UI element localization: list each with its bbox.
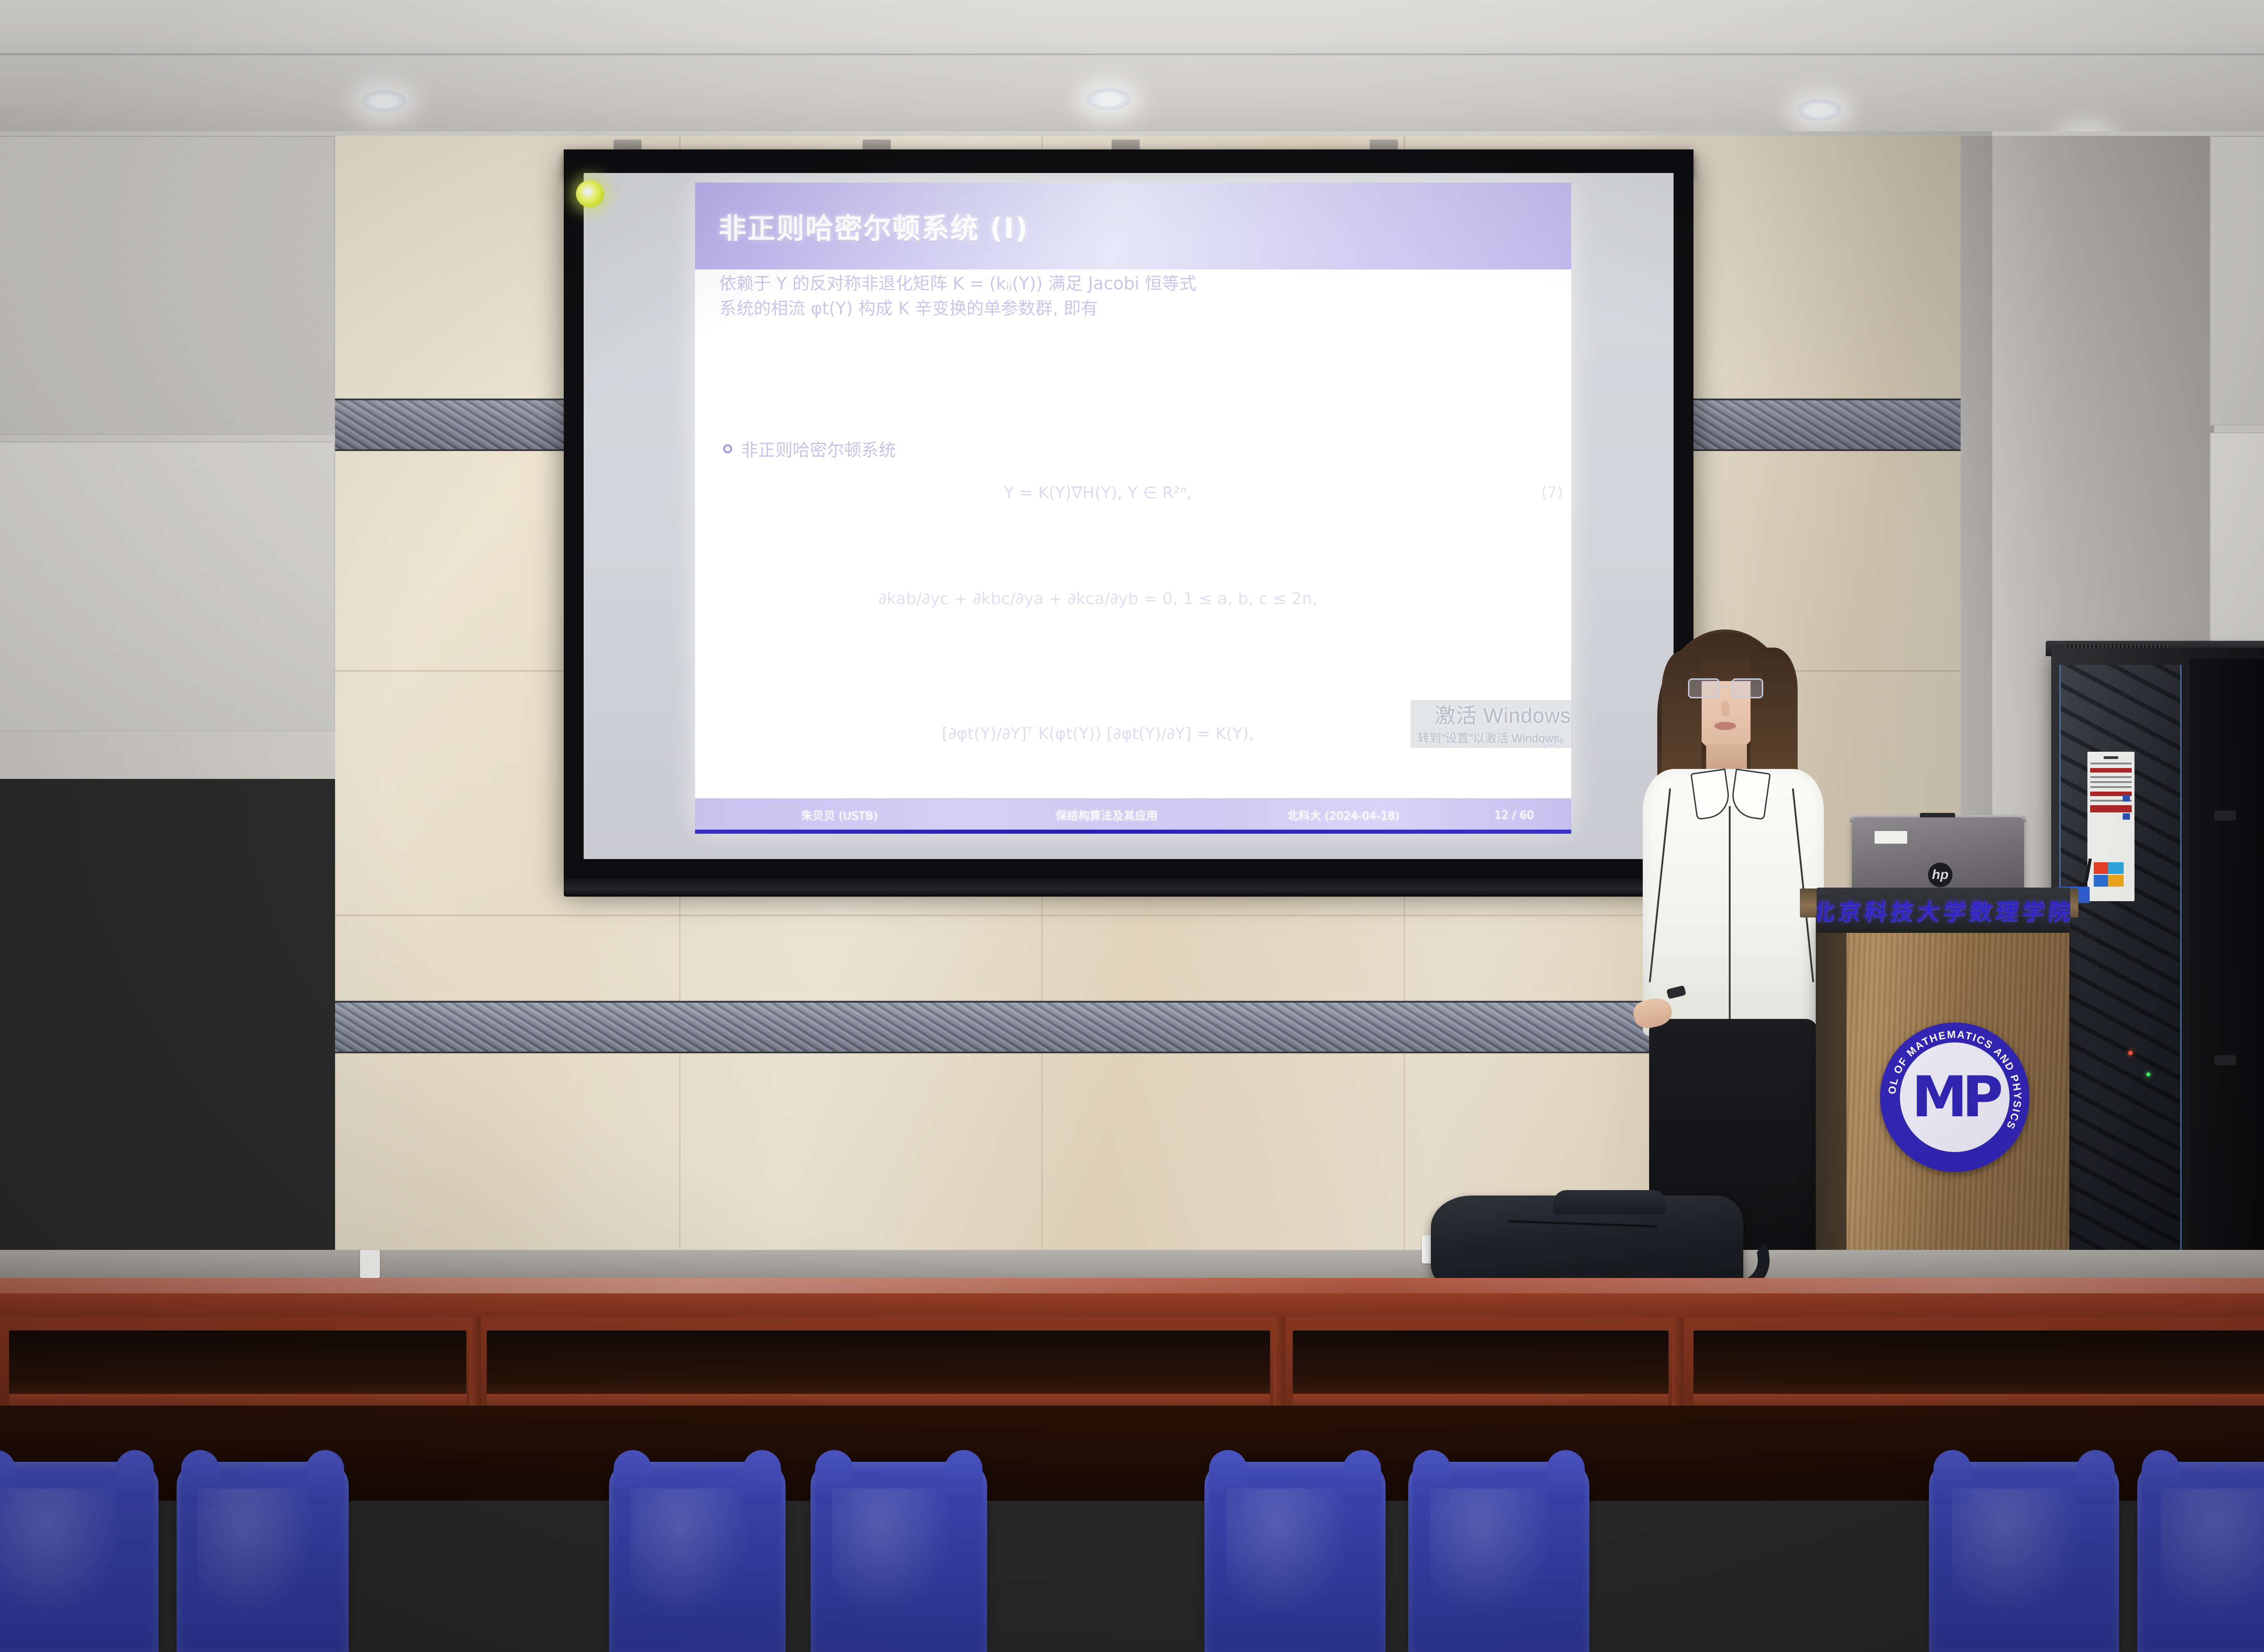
- rack-dark-section: [2190, 659, 2264, 1261]
- desk-sheen: [0, 1278, 2264, 1293]
- chair-wing-left: [1209, 1450, 1247, 1504]
- label-line: [2090, 776, 2132, 778]
- chair-wing-left: [181, 1450, 219, 1504]
- chair-highlight: [630, 1489, 754, 1622]
- eyeglasses: [1688, 678, 1763, 698]
- wall-panel-left-lower: [0, 442, 335, 731]
- slide-body: 非正则哈密尔顿系统 Y = K(Y)∇H(Y), Y ∈ R²ⁿ, (7) 依赖…: [695, 269, 1571, 798]
- mouth: [1714, 722, 1736, 730]
- slide-bullet-label: 非正则哈密尔顿系统: [741, 436, 896, 461]
- label-highlight: [2090, 805, 2132, 812]
- school-logo-ring-text: SCHOOL OF MATHEMATICS AND PHYSICS: [1880, 1023, 2029, 1172]
- rack-slot: [2214, 811, 2236, 821]
- svg-text:SCHOOL OF MATHEMATICS AND PHYS: SCHOOL OF MATHEMATICS AND PHYSICS: [1880, 1023, 2024, 1132]
- projection-screen: 非正则哈密尔顿系统 (I) 非正则哈密尔顿系统 Y = K(Y)∇H(Y), Y…: [564, 149, 1693, 885]
- label-line: [2090, 763, 2132, 764]
- chair-highlight: [0, 1489, 125, 1622]
- desk-shelf-lip: [1293, 1394, 1669, 1406]
- footer-topic: 保结构算法及其应用: [984, 807, 1229, 823]
- status-led-icon: [2128, 1051, 2133, 1055]
- desk-shelf-lip: [487, 1394, 1270, 1406]
- windows-activation-watermark: 激活 Windows 转到"设置"以激活 Windows。: [1410, 700, 1572, 748]
- label-swatch: [2123, 813, 2130, 820]
- presentation-slide: 非正则哈密尔顿系统 (I) 非正则哈密尔顿系统 Y = K(Y)∇H(Y), Y…: [695, 182, 1571, 831]
- auditorium-chair[interactable]: [1929, 1462, 2119, 1652]
- slide-title-bar: 非正则哈密尔顿系统 (I): [695, 182, 1571, 269]
- equation-jacobi: ∂kab/∂yc + ∂kbc/∂ya + ∂kca/∂yb = 0, 1 ≤ …: [878, 590, 1318, 608]
- chair-wing-left: [2142, 1450, 2180, 1504]
- footer-author: 朱贝贝 (USTB): [695, 807, 984, 823]
- screen-bottom-weight-bar: [564, 879, 1693, 897]
- shirt-placket: [1729, 806, 1731, 1032]
- wall-panel-right-upper: [2210, 136, 2264, 426]
- chair-wing-right: [945, 1450, 983, 1504]
- desk-shelf-lip: [1693, 1394, 2264, 1406]
- auditorium-chair[interactable]: [2137, 1462, 2264, 1652]
- footer-page-number: 12 / 60: [1457, 808, 1571, 821]
- label-swatch: [2123, 795, 2130, 802]
- av-rack-instruction-label: [2087, 752, 2134, 901]
- downlight-icon: [1798, 100, 1841, 120]
- watermark-line-2: 转到"设置"以激活 Windows。: [1418, 731, 1571, 746]
- glasses-bridge: [1720, 686, 1732, 687]
- status-led-icon: [2146, 1072, 2150, 1076]
- slide-accent-underline: [695, 830, 1571, 834]
- hp-logo-icon: hp: [1928, 863, 1952, 887]
- equation-7-number: (7): [1541, 484, 1563, 502]
- stage-floor: [0, 1250, 2264, 1282]
- chair-wing-left: [614, 1450, 652, 1504]
- chair-wing-right: [743, 1450, 781, 1504]
- desk-shelf: [9, 1330, 466, 1403]
- label-title-bar: [2104, 756, 2118, 759]
- chair-wing-right: [1547, 1450, 1585, 1504]
- slide-title: 非正则哈密尔顿系统 (I): [719, 206, 1029, 246]
- equation-7: Y = K(Y)∇H(Y), Y ∈ R²ⁿ,: [1004, 484, 1192, 502]
- school-logo: SCHOOL OF MATHEMATICS AND PHYSICS MP: [1880, 1023, 2029, 1172]
- chair-wing-left: [1933, 1450, 1971, 1504]
- presenter: [1626, 625, 1843, 1282]
- laser-pointer-dot-icon: [576, 180, 604, 207]
- chair-wing-right: [1343, 1450, 1381, 1504]
- slide-prose-line-1: 依赖于 Y 的反对称非退化矩阵 K = (kᵢⱼ(Y)) 满足 Jacobi 恒…: [719, 269, 1547, 294]
- rack-slot: [2214, 1055, 2236, 1065]
- chair-wing-left: [815, 1450, 853, 1504]
- desk-shelf: [1293, 1330, 1669, 1403]
- desk-shelf: [1693, 1330, 2264, 1403]
- downlight-icon: [1087, 89, 1130, 110]
- watermark-line-1: 激活 Windows: [1418, 703, 1571, 729]
- chair-wing-right: [2077, 1450, 2115, 1504]
- bullet-dot-icon: [723, 444, 732, 453]
- screen-surface: 非正则哈密尔顿系统 (I) 非正则哈密尔顿系统 Y = K(Y)∇H(Y), Y…: [584, 173, 1674, 859]
- auditorium-chair[interactable]: [811, 1462, 987, 1652]
- downlight-icon: [362, 91, 406, 111]
- desk-shelf: [487, 1330, 1270, 1403]
- chair-wing-right: [116, 1450, 154, 1504]
- chair-highlight: [197, 1489, 318, 1622]
- lens-right: [1732, 678, 1763, 698]
- chair-highlight: [1952, 1489, 2085, 1622]
- lecture-hall-scene: 非正则哈密尔顿系统 (I) 非正则哈密尔顿系统 Y = K(Y)∇H(Y), Y…: [0, 0, 2264, 1652]
- chair-highlight: [832, 1489, 955, 1622]
- podium-side-panel: [1816, 915, 1847, 1277]
- soffit-edge-line: [0, 53, 2264, 55]
- chair-wing-right: [306, 1450, 344, 1504]
- wall-panel-left-upper: [0, 136, 335, 435]
- auditorium-chair[interactable]: [1408, 1462, 1589, 1652]
- chair-highlight: [1226, 1489, 1353, 1622]
- laptop-asset-sticker: [1875, 831, 1907, 844]
- desk-shelf-lip: [9, 1394, 466, 1406]
- auditorium-chair[interactable]: [1204, 1462, 1386, 1652]
- auditorium-chair[interactable]: [609, 1462, 786, 1652]
- auditorium-chair[interactable]: [177, 1462, 349, 1652]
- podium-nameplate-text: 北京科技大学数理学院: [1817, 894, 2070, 927]
- nose: [1722, 701, 1730, 716]
- windows-logo-icon: [2094, 862, 2124, 887]
- chair-wing-left: [1413, 1450, 1451, 1504]
- chair-highlight: [2161, 1489, 2264, 1622]
- backpack-flap: [1553, 1190, 1666, 1215]
- wall-outlet: [360, 1250, 380, 1278]
- slide-prose-line-2: 系统的相流 φt(Y) 构成 K 辛变换的单参数群, 即有: [719, 294, 1547, 319]
- label-line: [2090, 786, 2132, 788]
- slide-footer: 朱贝贝 (USTB) 保结构算法及其应用 北科大 (2024-04-18) 12…: [695, 798, 1571, 831]
- chair-highlight: [1430, 1489, 1557, 1622]
- slide-bullet-item: 非正则哈密尔顿系统: [723, 436, 896, 461]
- footer-venue-date: 北科大 (2024-04-18): [1229, 807, 1457, 823]
- ceiling-soffit: [0, 43, 2264, 134]
- label-line: [2090, 781, 2132, 783]
- auditorium-chair[interactable]: [0, 1462, 158, 1652]
- label-highlight: [2090, 768, 2132, 773]
- equation-8: [∂φt(Y)/∂Y]ᵀ K(φt(Y)) [∂φt(Y)/∂Y] = K(Y)…: [942, 725, 1254, 743]
- podium-nameplate: 北京科技大学数理学院: [1817, 888, 2070, 933]
- lens-left: [1688, 678, 1720, 698]
